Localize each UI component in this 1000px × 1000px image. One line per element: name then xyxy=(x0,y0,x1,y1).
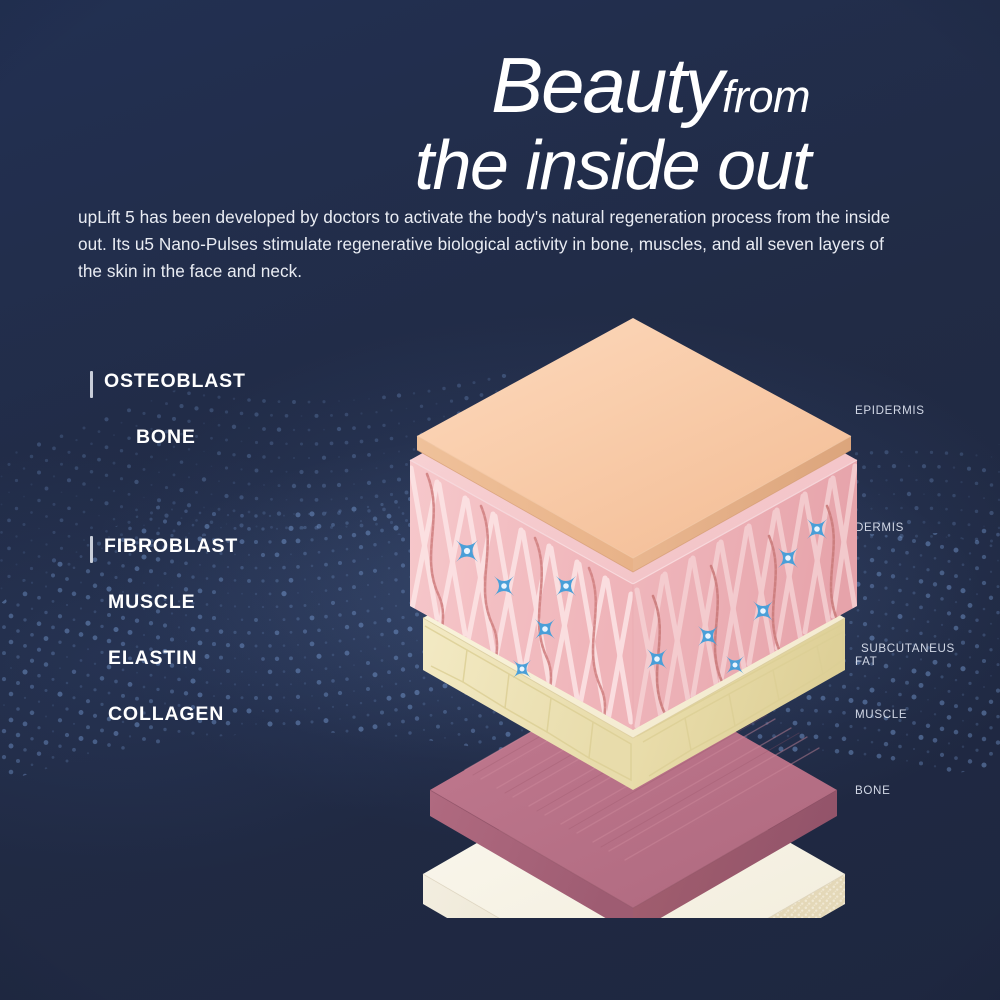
headline-word-from: from xyxy=(722,71,810,122)
right-label-epidermis: EPIDERMIS xyxy=(855,404,925,417)
left-label-muscle: MUSCLE xyxy=(108,591,195,614)
skin-layers-diagram xyxy=(405,318,865,908)
left-label-fibroblast: FIBROBLAST xyxy=(104,535,238,558)
label-accent-bar xyxy=(90,536,93,563)
left-label-column: OSTEOBLASTBONEFIBROBLASTMUSCLEELASTINCOL… xyxy=(0,0,400,1000)
left-label-bone: BONE xyxy=(136,426,196,449)
label-accent-bar xyxy=(90,371,93,398)
left-label-elastin: ELASTIN xyxy=(108,647,197,670)
infographic-canvas: Beautyfrom the inside out upLift 5 has b… xyxy=(0,0,1000,1000)
left-label-collagen: COLLAGEN xyxy=(108,703,224,726)
left-label-osteoblast: OSTEOBLAST xyxy=(104,370,246,393)
right-label-subcutaneus: SUBCUTANEUSFAT xyxy=(861,642,955,668)
headline-word-beauty: Beauty xyxy=(491,41,722,129)
